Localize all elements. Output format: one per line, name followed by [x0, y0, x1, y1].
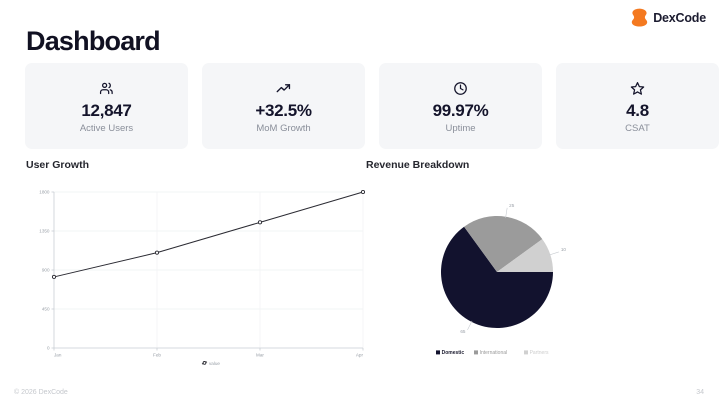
svg-text:value: value [209, 361, 220, 366]
section-title-user-growth: User Growth [26, 159, 89, 171]
svg-text:International: International [480, 350, 508, 356]
users-icon [99, 79, 114, 99]
kpi-label: Uptime [445, 123, 475, 134]
revenue-breakdown-pie-chart[interactable]: 652510DomesticInternationalPartners [400, 182, 700, 377]
kpi-value: 4.8 [626, 101, 649, 121]
kpi-card-active-users[interactable]: 12,847 Active Users [25, 63, 188, 149]
svg-text:0: 0 [47, 346, 50, 351]
brand-logo: DexCode [631, 8, 706, 27]
kpi-card-row: 12,847 Active Users +32.5% MoM Growth 99… [25, 63, 719, 149]
brand-name: DexCode [653, 11, 706, 25]
svg-text:65: 65 [460, 329, 466, 334]
svg-text:25: 25 [509, 203, 515, 208]
kpi-card-mom-growth[interactable]: +32.5% MoM Growth [202, 63, 365, 149]
clock-icon [453, 79, 468, 99]
svg-text:1800: 1800 [39, 190, 50, 195]
svg-text:Apr: Apr [356, 353, 364, 358]
svg-text:900: 900 [42, 268, 50, 273]
kpi-label: MoM Growth [256, 123, 310, 134]
svg-text:10: 10 [561, 247, 567, 252]
svg-text:450: 450 [42, 307, 50, 312]
section-title-revenue-breakdown: Revenue Breakdown [366, 159, 469, 171]
trending-up-icon [276, 79, 291, 99]
kpi-card-csat[interactable]: 4.8 CSAT [556, 63, 719, 149]
dexcode-blob-logo-icon [631, 8, 648, 27]
svg-text:Jan: Jan [54, 353, 62, 358]
page-title: Dashboard [26, 26, 160, 57]
kpi-value: 99.97% [433, 101, 489, 121]
svg-text:Mar: Mar [256, 353, 264, 358]
kpi-value: +32.5% [255, 101, 311, 121]
svg-text:Domestic: Domestic [442, 350, 465, 356]
footer-page-number: 34 [696, 389, 704, 396]
svg-text:1350: 1350 [39, 229, 50, 234]
kpi-card-uptime[interactable]: 99.97% Uptime [379, 63, 542, 149]
svg-text:Partners: Partners [530, 350, 549, 356]
user-growth-line-chart[interactable]: 045090013501800JanFebMarAprvalue [22, 182, 370, 377]
kpi-label: Active Users [80, 123, 133, 134]
kpi-value: 12,847 [81, 101, 131, 121]
svg-text:Feb: Feb [153, 353, 161, 358]
star-icon [630, 79, 645, 99]
footer-copyright: © 2026 DexCode [14, 389, 68, 396]
slide-root: DexCode Dashboard 12,847 Active Users [0, 0, 720, 405]
kpi-label: CSAT [625, 123, 650, 134]
